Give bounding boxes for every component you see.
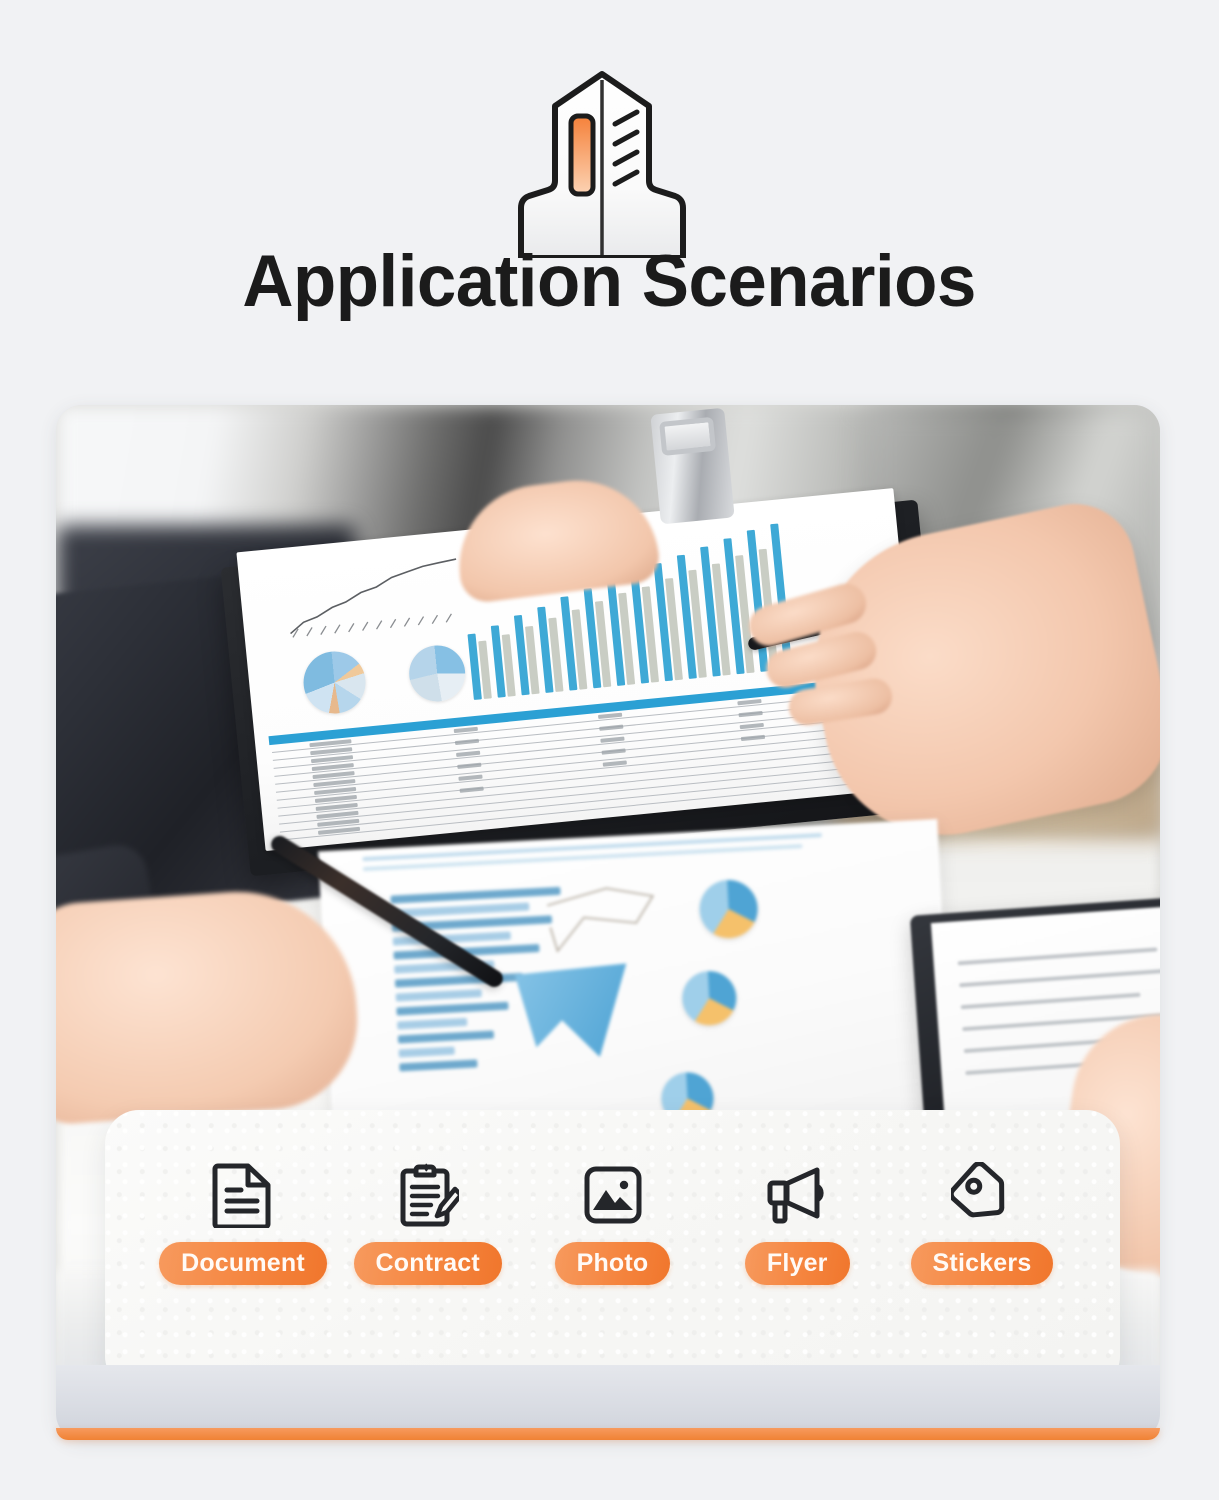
- scenario-item-stickers[interactable]: Stickers: [892, 1162, 1072, 1285]
- scenario-list: Document: [105, 1162, 1120, 1285]
- photo-clipboard-clip: [650, 408, 735, 535]
- photo-image-icon: [580, 1162, 646, 1228]
- scenario-label-photo[interactable]: Photo: [555, 1242, 671, 1285]
- page-root: Application Scenarios: [0, 0, 1219, 1500]
- document-icon: [210, 1162, 276, 1228]
- photo-trend-line-chart: [281, 554, 477, 642]
- photo-pie-chart-1: [301, 649, 369, 717]
- scenario-item-photo[interactable]: Photo: [523, 1162, 703, 1285]
- scenario-item-flyer[interactable]: Flyer: [707, 1162, 887, 1285]
- header: Application Scenarios: [0, 0, 1219, 390]
- scenario-label-stickers[interactable]: Stickers: [911, 1242, 1054, 1285]
- scenario-label-document[interactable]: Document: [159, 1242, 327, 1285]
- application-scenarios-card: Document: [105, 1110, 1120, 1390]
- contract-clipboard-pen-icon: [395, 1162, 461, 1228]
- scenario-label-flyer[interactable]: Flyer: [745, 1242, 850, 1285]
- office-meeting-photo: Document: [56, 405, 1160, 1440]
- scenario-label-contract[interactable]: Contract: [354, 1242, 502, 1285]
- page-title-row: Application Scenarios: [0, 240, 1219, 324]
- photo-fg-polyline: [542, 881, 666, 959]
- scenario-item-document[interactable]: Document: [153, 1162, 333, 1285]
- photo-canvas: Document: [56, 405, 1160, 1390]
- scenario-item-contract[interactable]: Contract: [338, 1162, 518, 1285]
- page-title: Application Scenarios: [243, 240, 977, 324]
- megaphone-icon: [764, 1162, 830, 1228]
- photo-pie-chart-2: [407, 643, 468, 704]
- bottom-accent-bar: [56, 1428, 1160, 1440]
- building-tower-icon: [497, 68, 707, 258]
- price-tag-icon: [949, 1162, 1015, 1228]
